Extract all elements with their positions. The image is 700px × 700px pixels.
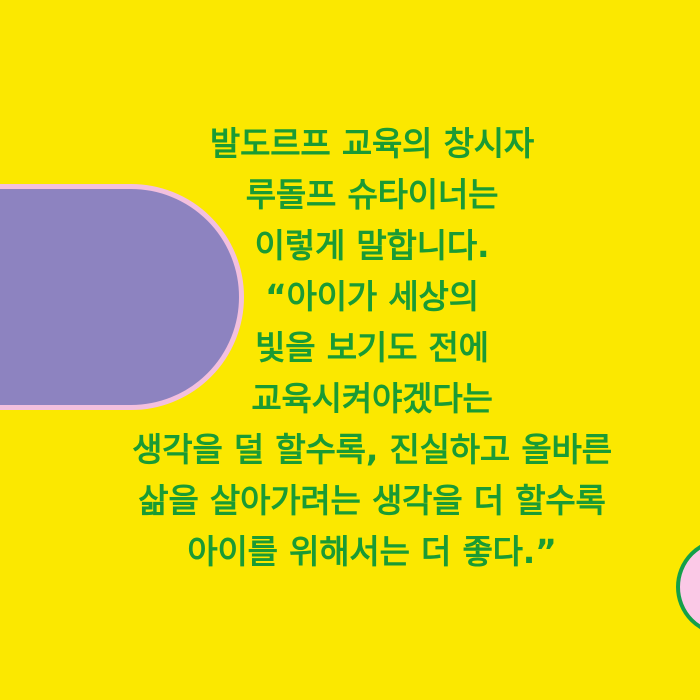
quote-line-1: 발도르프 교육의 창시자 [0, 118, 700, 169]
quote-card: 발도르프 교육의 창시자 루돌프 슈타이너는 이렇게 말합니다. “아이가 세상… [0, 0, 700, 700]
quote-line-7: 생각을 덜 할수록, 진실하고 올바른 [0, 424, 700, 475]
quote-line-5: 빛을 보기도 전에 [0, 322, 700, 373]
quote-line-4: “아이가 세상의 [0, 271, 700, 322]
quote-text-block: 발도르프 교육의 창시자 루돌프 슈타이너는 이렇게 말합니다. “아이가 세상… [0, 118, 700, 577]
quote-line-3: 이렇게 말합니다. [0, 220, 700, 271]
quote-line-9: 아이를 위해서는 더 좋다.” [0, 526, 700, 577]
quote-line-6: 교육시켜야겠다는 [0, 373, 700, 424]
quote-line-2: 루돌프 슈타이너는 [0, 169, 700, 220]
quote-line-8: 삶을 살아가려는 생각을 더 할수록 [0, 475, 700, 526]
